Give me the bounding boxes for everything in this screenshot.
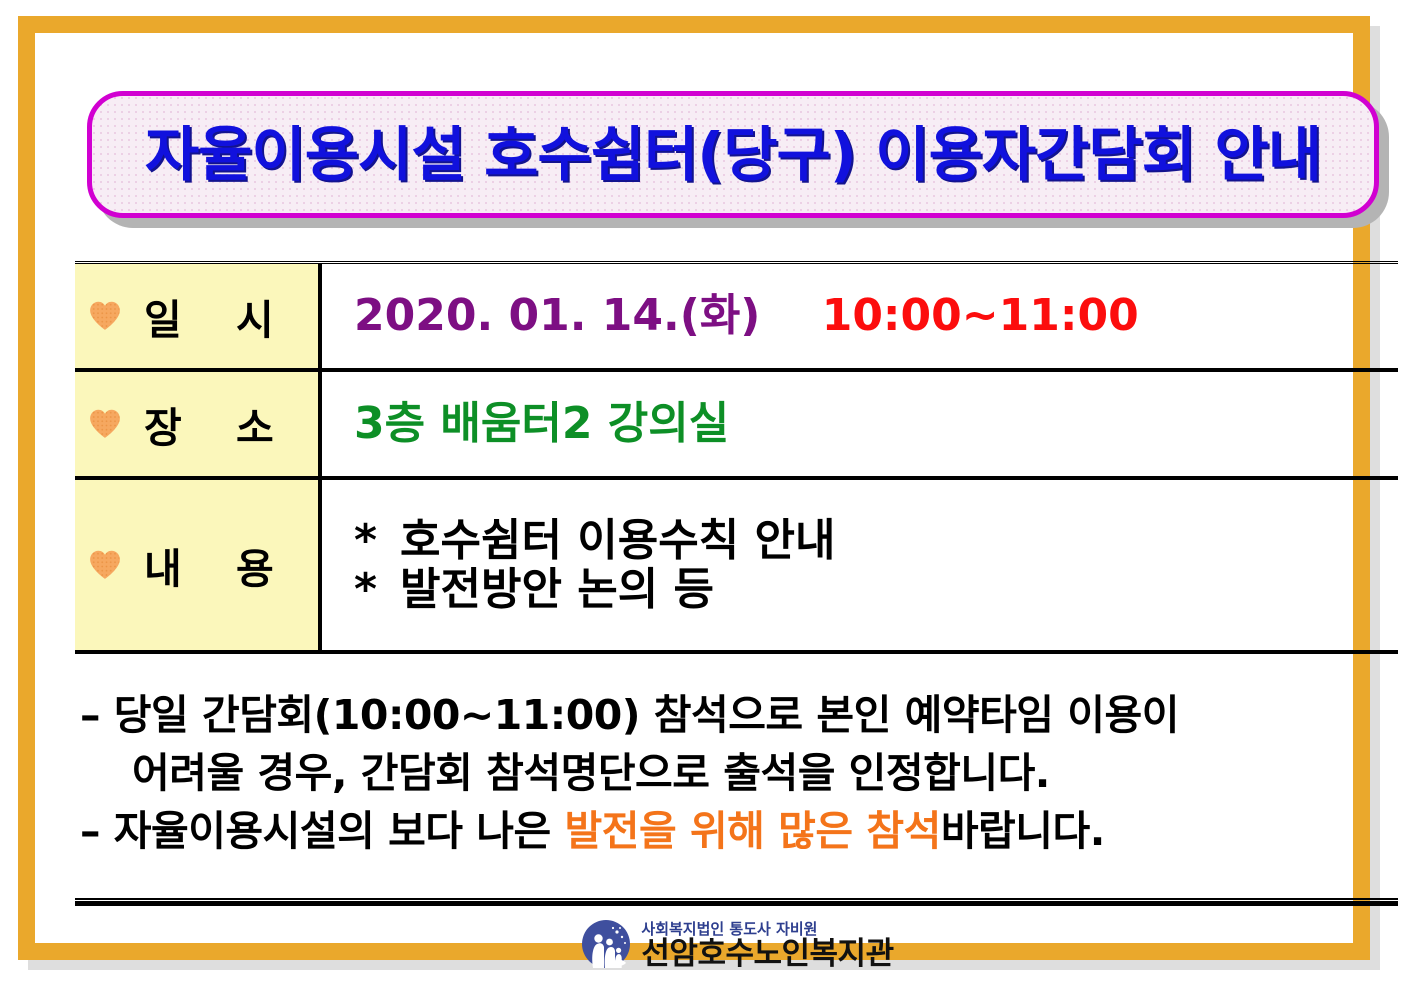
organization-logo: 사회복지법인 통도사 자비원 선암호수노인복지관	[579, 918, 893, 974]
note-1-line-1: – 당일 간담회(10:00~11:00) 참석으로 본인 예약타임 이용이	[80, 686, 1400, 744]
outer-gold-frame: 자율이용시설 호수쉼터(당구) 이용자간담회 안내	[18, 16, 1370, 960]
table-row: 내 용 *호수쉼터 이용수칙 안내 *발전방안 논의 등	[75, 480, 1398, 654]
content-bullet-2: *발전방안 논의 등	[354, 565, 1398, 614]
asterisk-icon: *	[354, 516, 400, 565]
logo-text-block: 사회복지법인 통도사 자비원 선암호수노인복지관	[641, 922, 893, 970]
content-bullet-2-text: 발전방안 논의 등	[400, 564, 714, 615]
row-label-text: 장 소	[144, 394, 294, 454]
row-label-text: 내 용	[144, 535, 294, 595]
table-row: 일 시 2020. 01. 14.(화) 10:00~11:00	[75, 264, 1398, 372]
welfare-center-emblem-icon	[579, 918, 635, 974]
datetime-value: 2020. 01. 14.(화) 10:00~11:00	[354, 291, 1398, 340]
notes-section: – 당일 간담회(10:00~11:00) 참석으로 본인 예약타임 이용이 어…	[80, 686, 1400, 861]
note-2: – 자율이용시설의 보다 나은 발전을 위해 많은 참석바랍니다.	[80, 802, 1400, 860]
note-1-line-2: 어려울 경우, 간담회 참석명단으로 출석을 인정합니다.	[80, 744, 1400, 802]
row-label-contents: 내 용	[75, 480, 322, 650]
heart-icon	[88, 407, 122, 441]
row-value-contents: *호수쉼터 이용수칙 안내 *발전방안 논의 등	[322, 480, 1398, 650]
footer-logo-area: 사회복지법인 통도사 자비원 선암호수노인복지관	[70, 918, 1403, 974]
row-value-location: 3층 배움터2 강의실	[322, 372, 1398, 476]
poster-root: 자율이용시설 호수쉼터(당구) 이용자간담회 안내	[0, 0, 1403, 992]
logo-title: 선암호수노인복지관	[641, 939, 893, 970]
content-bullet-1-text: 호수쉼터 이용수칙 안내	[400, 515, 835, 566]
note-2-suffix: 바랍니다.	[941, 807, 1105, 855]
note-2-highlight: 발전을 위해 많은 참석	[565, 807, 941, 855]
datetime-date: 2020. 01. 14.(화)	[354, 290, 760, 341]
heart-icon	[88, 548, 122, 582]
title-banner: 자율이용시설 호수쉼터(당구) 이용자간담회 안내	[87, 91, 1379, 218]
asterisk-icon: *	[354, 565, 400, 614]
content-bullet-1: *호수쉼터 이용수칙 안내	[354, 516, 1398, 565]
page-title: 자율이용시설 호수쉼터(당구) 이용자간담회 안내	[145, 125, 1321, 184]
info-table: 일 시 2020. 01. 14.(화) 10:00~11:00	[75, 261, 1398, 654]
heart-icon	[88, 299, 122, 333]
table-row: 장 소 3층 배움터2 강의실	[75, 372, 1398, 480]
poster-inner-area: 자율이용시설 호수쉼터(당구) 이용자간담회 안내	[70, 66, 1403, 978]
row-label-location: 장 소	[75, 372, 322, 476]
footer-divider	[75, 898, 1398, 906]
note-2-prefix: – 자율이용시설의 보다 나은	[80, 807, 565, 855]
row-label-text: 일 시	[144, 286, 294, 346]
location-value: 3층 배움터2 강의실	[354, 399, 1398, 448]
logo-subtitle: 사회복지법인 통도사 자비원	[641, 922, 893, 937]
datetime-time: 10:00~11:00	[822, 290, 1139, 341]
title-banner-box: 자율이용시설 호수쉼터(당구) 이용자간담회 안내	[87, 91, 1379, 218]
row-value-datetime: 2020. 01. 14.(화) 10:00~11:00	[322, 264, 1398, 368]
row-label-datetime: 일 시	[75, 264, 322, 368]
